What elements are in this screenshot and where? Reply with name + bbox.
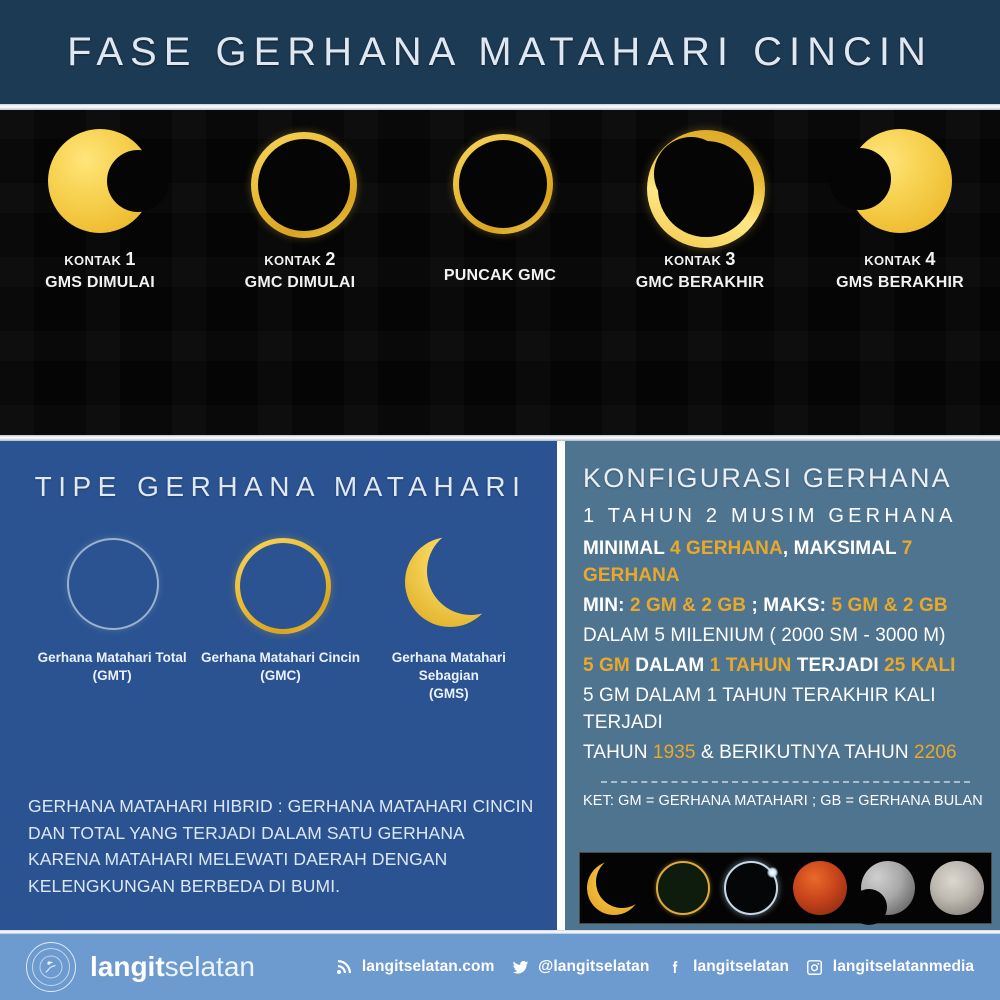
phase-5-number: 4	[925, 249, 935, 269]
annular-solar-ring-photo	[656, 861, 710, 915]
minmaks-prefix: MIN:	[583, 595, 630, 616]
eclipse-type-gmt: Gerhana Matahari Total (GMT)	[28, 533, 196, 704]
kali-25: 25 KALI	[884, 655, 955, 676]
phase-5-kontak: KONTAK	[864, 253, 921, 268]
partial-eclipse-left-bite-icon	[845, 126, 955, 236]
kali-dalam: DALAM	[630, 655, 710, 676]
kali-5gm: 5 GM	[583, 655, 630, 676]
config-line-min-max-gerhana: MINIMAL 4 GERHANA, MAKSIMAL 7 GERHANA	[583, 536, 988, 590]
phase-label-5: KONTAK 4 GMS BERAKHIR	[836, 248, 964, 294]
brand-light-text: selatan	[165, 951, 255, 982]
eclipse-types-row: Gerhana Matahari Total (GMT) Gerhana Mat…	[28, 533, 533, 704]
langitselatan-seal-logo-icon	[26, 942, 76, 992]
full-moon-photo	[930, 861, 984, 915]
max-prefix: , MAKSIMAL	[783, 538, 902, 559]
total-eclipse-faint-ring-icon	[62, 533, 162, 633]
partial-lunar-photo	[861, 861, 915, 915]
eclipse-type-gms: Gerhana Matahari Sebagian (GMS)	[365, 533, 533, 704]
phase-item-2: KONTAK 2 GMC DIMULAI	[200, 110, 400, 294]
legend-note: KET: GM = GERHANA MATAHARI ; GB = GERHAN…	[583, 793, 988, 809]
eclipse-types-panel: TIPE GERHANA MATAHARI Gerhana Matahari T…	[0, 441, 557, 930]
annular-eclipse-gold-ring-icon	[230, 533, 330, 633]
minmaks-mid: ; MAKS:	[746, 595, 831, 616]
phase-2-kontak: KONTAK	[264, 253, 321, 268]
phase-item-3: PUNCAK GMC	[400, 110, 600, 286]
phase-4-kontak: KONTAK	[664, 253, 721, 268]
phase-label-4: KONTAK 3 GMC BERAKHIR	[636, 248, 765, 294]
rss-icon	[334, 957, 354, 977]
header-bar: FASE GERHANA MATAHARI CINCIN	[0, 0, 1000, 104]
website-link-label: langitselatan.com	[362, 958, 495, 976]
eclipse-types-title: TIPE GERHANA MATAHARI	[28, 471, 533, 503]
phase-2-main: GMC DIMULAI	[245, 273, 356, 293]
right-dashed-divider	[601, 781, 970, 783]
phase-2-number: 2	[325, 249, 335, 269]
phase-1-number: 1	[125, 249, 135, 269]
berikutnya-prefix: & BERIKUTNYA TAHUN	[696, 742, 914, 763]
eclipse-type-gmt-name: Gerhana Matahari Total	[38, 650, 187, 665]
eclipse-type-gmc-name: Gerhana Matahari Cincin	[201, 650, 360, 665]
phase-label-1: KONTAK 1 GMS DIMULAI	[45, 248, 155, 294]
tahun-prefix: TAHUN	[583, 742, 653, 763]
config-line-terakhir-b: TAHUN 1935 & BERIKUTNYA TAHUN 2206	[583, 740, 988, 767]
thin-ring-eclipse-icon	[245, 126, 355, 236]
eclipse-type-gmc-abbr: (GMC)	[260, 668, 301, 683]
middle-section: TIPE GERHANA MATAHARI Gerhana Matahari T…	[0, 441, 1000, 930]
eclipse-type-gms-abbr: (GMS)	[429, 686, 469, 701]
twitter-link[interactable]: @langitselatan	[510, 957, 649, 977]
minmaks-min-value: 2 GM & 2 GB	[630, 595, 746, 616]
footer-bar: langitselatan langitselatan.com @langits…	[0, 934, 1000, 1000]
eclipse-phases-section: KONTAK 1 GMS DIMULAI KONTAK 2 GMC DIMULA…	[0, 110, 1000, 435]
phase-item-4: KONTAK 3 GMC BERAKHIR	[600, 110, 800, 294]
config-line-25-kali: 5 GM DALAM 1 TAHUN TERJADI 25 KALI	[583, 653, 988, 680]
instagram-icon	[805, 957, 825, 977]
facebook-link[interactable]: langitselatan	[665, 957, 789, 977]
minmaks-max-value: 5 GM & 2 GB	[831, 595, 947, 616]
config-line-milenium: DALAM 5 MILENIUM ( 2000 SM - 3000 M)	[583, 623, 988, 650]
phase-3-main: PUNCAK GMC	[444, 266, 556, 286]
config-line-min-maks-gm-gb: MIN: 2 GM & 2 GB ; MAKS: 5 GM & 2 GB	[583, 593, 988, 620]
total-solar-diamond-ring-photo	[724, 861, 778, 915]
brand-bold-text: langit	[90, 951, 165, 982]
configuration-title: KONFIGURASI GERHANA	[583, 463, 988, 494]
min-value: 4 GERHANA	[670, 538, 783, 559]
partial-solar-crescent-photo	[587, 861, 641, 915]
infographic-page: FASE GERHANA MATAHARI CINCIN KONTAK 1 GM…	[0, 0, 1000, 1000]
phase-label-3: PUNCAK GMC	[444, 248, 556, 286]
total-lunar-red-photo	[793, 861, 847, 915]
page-title: FASE GERHANA MATAHARI CINCIN	[67, 30, 933, 75]
phase-label-2: KONTAK 2 GMC DIMULAI	[245, 248, 356, 294]
seal-inner-ring	[32, 948, 70, 986]
partial-eclipse-crescent-icon	[399, 533, 499, 633]
phase-5-main: GMS BERAKHIR	[836, 273, 964, 293]
eclipse-photo-strip	[579, 852, 992, 924]
eclipse-type-gmt-abbr: (GMT)	[93, 668, 132, 683]
tahun-1935: 1935	[653, 742, 696, 763]
phase-item-1: KONTAK 1 GMS DIMULAI	[0, 110, 200, 294]
phase-4-number: 3	[725, 249, 735, 269]
instagram-link[interactable]: langitselatanmedia	[805, 957, 974, 977]
social-links: langitselatan.com @langitselatan langits…	[326, 957, 1000, 977]
website-link[interactable]: langitselatan.com	[334, 957, 495, 977]
kali-terjadi: TERJADI	[791, 655, 884, 676]
phase-4-main: GMC BERAKHIR	[636, 273, 765, 293]
eclipse-type-gmc: Gerhana Matahari Cincin (GMC)	[196, 533, 364, 704]
instagram-link-label: langitselatanmedia	[833, 958, 974, 976]
eclipse-configuration-panel: KONFIGURASI GERHANA 1 TAHUN 2 MUSIM GERH…	[565, 441, 1000, 930]
phase-1-kontak: KONTAK	[64, 253, 121, 268]
thick-ring-eclipse-icon	[645, 126, 755, 236]
twitter-link-label: @langitselatan	[538, 958, 649, 976]
hybrid-eclipse-note: GERHANA MATAHARI HIBRID : GERHANA MATAHA…	[28, 793, 535, 899]
kali-1tahun: 1 TAHUN	[710, 655, 792, 676]
phase-1-main: GMS DIMULAI	[45, 273, 155, 293]
config-line-terakhir-a: 5 GM DALAM 1 TAHUN TERAKHIR KALI TERJADI	[583, 683, 988, 737]
phase-item-5: KONTAK 4 GMS BERAKHIR	[800, 110, 1000, 294]
eclipse-phase-row: KONTAK 1 GMS DIMULAI KONTAK 2 GMC DIMULA…	[0, 110, 1000, 435]
eclipse-type-gms-name: Gerhana Matahari Sebagian	[392, 650, 506, 683]
brand-block: langitselatan	[26, 942, 326, 992]
brand-wordmark: langitselatan	[90, 951, 255, 983]
facebook-icon	[665, 957, 685, 977]
config-line-season: 1 TAHUN 2 MUSIM GERHANA	[583, 502, 988, 530]
panel-gap-divider	[557, 441, 565, 930]
facebook-link-label: langitselatan	[693, 958, 789, 976]
min-prefix: MINIMAL	[583, 538, 670, 559]
partial-eclipse-right-bite-icon	[45, 126, 155, 236]
tahun-2206: 2206	[914, 742, 957, 763]
twitter-icon	[510, 957, 530, 977]
centered-ring-eclipse-icon	[445, 126, 555, 236]
